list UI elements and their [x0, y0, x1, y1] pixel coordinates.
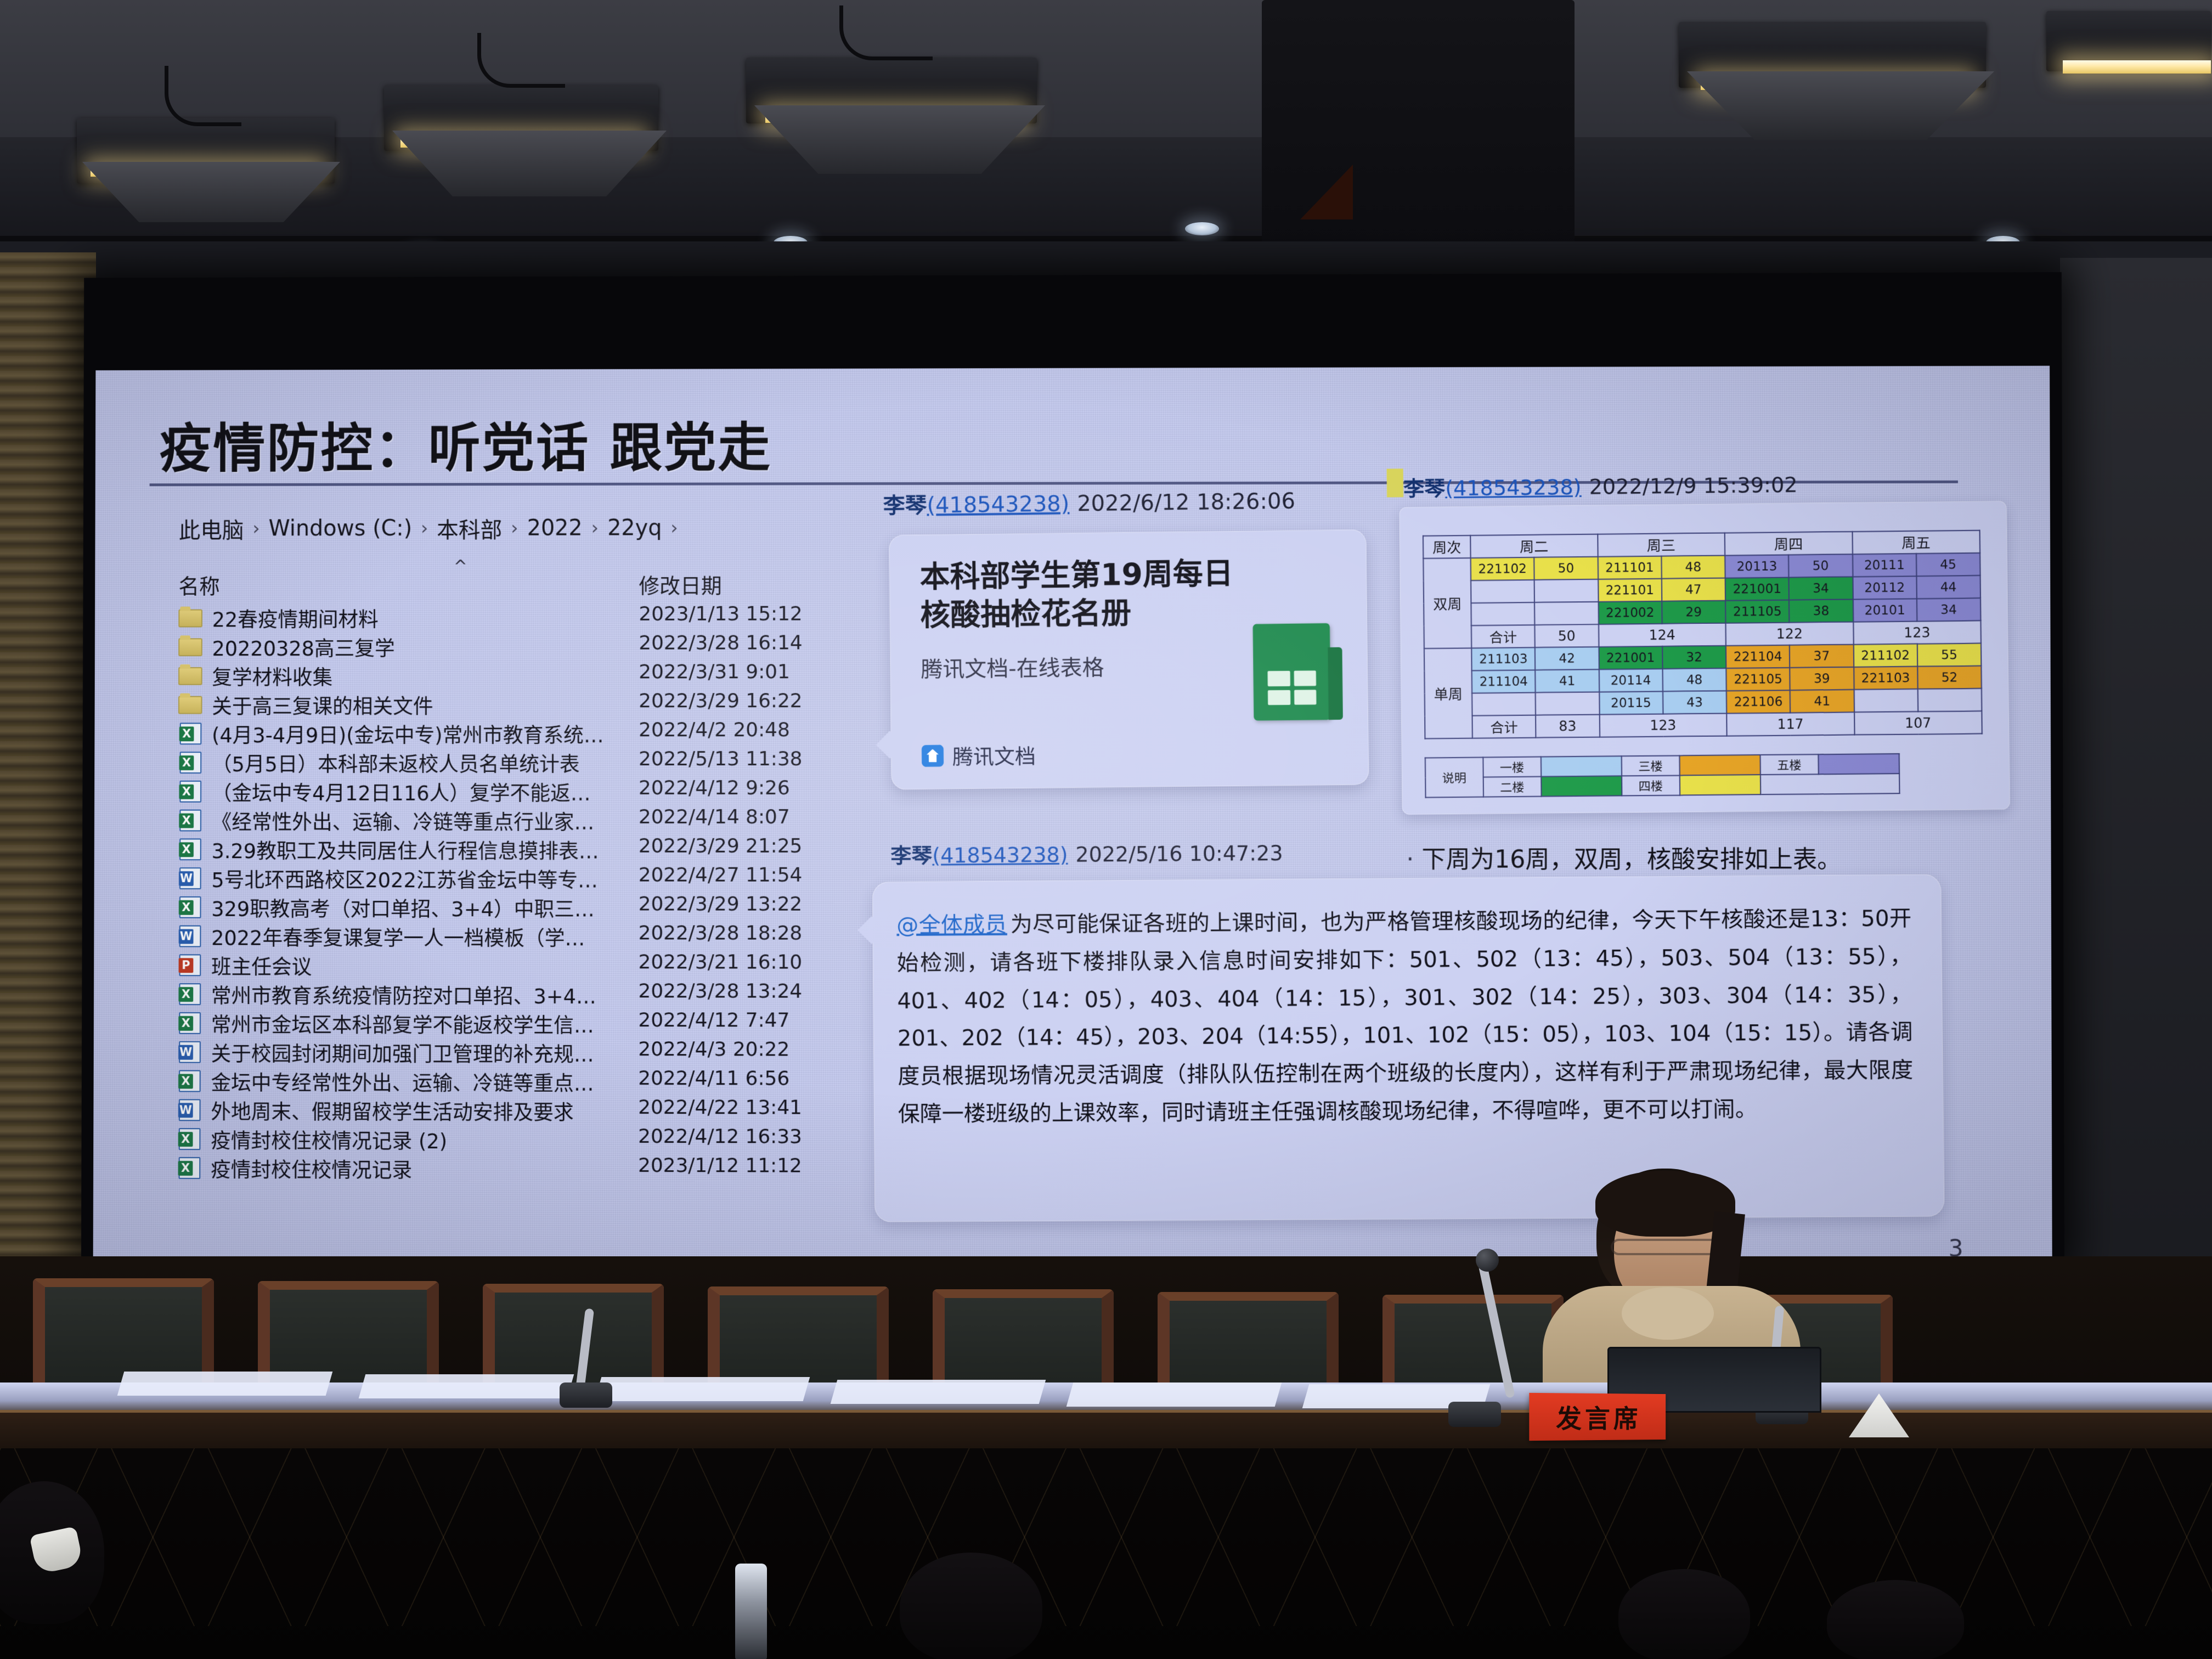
legend-empty	[1760, 774, 1900, 794]
file-name: 2022年春季复课复学一人一档模板（学…	[211, 921, 585, 951]
file-row[interactable]: W外地周末、假期留校学生活动安排及要求2022/4/22 13:41	[159, 1095, 890, 1126]
class-code-cell: 211105	[1725, 600, 1790, 623]
schedule-total-row: 合计83123117107	[1425, 711, 1982, 738]
class-count-cell: 45	[1916, 553, 1980, 576]
legend-swatch	[1818, 754, 1899, 774]
doc-subtitle: 腾讯文档-在线表格	[921, 650, 1104, 684]
file-row[interactable]: X常州市金坛区本科部复学不能返校学生信…2022/4/12 7:47	[159, 1008, 890, 1039]
sort-ascending-icon: ^	[454, 557, 467, 577]
file-name: 20220328高三复学	[212, 632, 394, 662]
file-modified-date: 2022/4/3 20:22	[638, 1038, 789, 1060]
file-list[interactable]: 22春疫情期间材料2023/1/13 15:1220220328高三复学2022…	[159, 602, 890, 1184]
week-group-label: 双周	[1423, 558, 1471, 648]
table-paper-4	[831, 1380, 1046, 1404]
class-code-cell: 221102	[1471, 557, 1534, 580]
breadcrumb-separator-icon: ›	[511, 517, 518, 539]
folder-icon	[178, 665, 204, 687]
file-modified-date: 2022/3/29 13:22	[639, 893, 803, 916]
class-code-cell: 211102	[1853, 644, 1917, 667]
file-name: (4月3-4月9日)(金坛中专)常州市教育系统…	[212, 719, 604, 748]
excel-file-icon: X	[178, 896, 203, 918]
file-name: 常州市教育系统疫情防控对口单招、3+4…	[211, 979, 596, 1009]
legend-swatch	[1541, 776, 1622, 796]
file-row[interactable]: X(4月3-4月9日)(金坛中专)常州市教育系统…2022/4/2 20:48	[160, 719, 890, 748]
excel-file-icon: X	[177, 983, 202, 1005]
file-row[interactable]: X金坛中专经常性外出、运输、冷链等重点…2022/4/11 6:56	[159, 1066, 890, 1097]
mention-all[interactable]: @全体成员	[896, 912, 1007, 938]
message-timestamp: 2022/12/9 15:39:02	[1589, 473, 1797, 499]
class-code-cell: 20114	[1599, 669, 1662, 692]
audience-head-2	[900, 1553, 1042, 1659]
file-modified-date: 2022/4/27 11:54	[639, 864, 803, 887]
legend-swatch	[1679, 755, 1760, 775]
file-modified-date: 2022/4/12 7:47	[638, 1009, 789, 1031]
file-modified-date: 2022/4/12 16:33	[638, 1125, 802, 1148]
ceiling-cable-1	[165, 66, 241, 126]
file-row[interactable]: W关于校园封闭期间加强门卫管理的补充规…2022/4/3 20:22	[159, 1037, 890, 1068]
right-wall-panel	[2060, 258, 2212, 1300]
class-code-cell: 20115	[1599, 691, 1663, 714]
file-row[interactable]: X（金坛中专4月12日116人）复学不能返…2022/4/12 9:26	[160, 777, 890, 806]
file-name: 班主任会议	[211, 950, 312, 980]
table-paper-2	[359, 1374, 574, 1398]
tencent-docs-brand: 腾讯文档	[952, 740, 1036, 771]
class-count-cell: 32	[1662, 646, 1726, 669]
breadcrumb-item-1[interactable]: Windows (C:)	[269, 516, 413, 541]
excel-file-icon: X	[178, 723, 204, 744]
file-row[interactable]: 关于高三复课的相关文件2022/3/29 16:22	[160, 690, 890, 719]
file-row[interactable]: 22春疫情期间材料2023/1/13 15:12	[160, 602, 890, 632]
doc-card-footer: 腾讯文档	[922, 740, 1036, 771]
class-count-cell: 48	[1661, 555, 1725, 578]
breadcrumb-separator-icon: ›	[421, 517, 428, 539]
class-count-cell: 43	[1663, 691, 1726, 714]
audience-head-4	[1827, 1580, 1964, 1659]
file-row[interactable]: 复学材料收集2022/3/31 9:01	[160, 661, 890, 690]
total-value: 123	[1853, 620, 1981, 644]
class-code-cell: 20112	[1853, 576, 1917, 599]
doc-title: 本科部学生第19周每日核酸抽检花名册	[919, 554, 1260, 635]
projection-screen: 疫情防控：听党话 跟党走 3 此电脑 › Windows (C:) › 本科部 …	[93, 366, 2052, 1282]
speaker-nameplate: 发言席	[1529, 1393, 1666, 1441]
breadcrumb-item-3[interactable]: 2022	[527, 516, 583, 541]
ceiling-cable-3	[839, 5, 933, 60]
tencent-sheet-icon	[1253, 623, 1331, 721]
class-code-cell: 20111	[1852, 554, 1916, 577]
word-file-icon: W	[178, 867, 203, 889]
page-title: 疫情防控：听党话 跟党走	[159, 405, 772, 482]
total-label: 合计	[1472, 715, 1536, 738]
file-modified-date: 2022/3/29 16:22	[639, 690, 803, 712]
file-name: 3.29教职工及共同居住人行程信息摸排表…	[212, 834, 599, 864]
file-modified-date: 2022/3/28 13:24	[638, 980, 802, 1002]
class-code-cell	[1471, 602, 1534, 625]
file-modified-date: 2022/4/11 6:56	[638, 1067, 789, 1090]
legend-row: 二楼四楼	[1425, 774, 1899, 798]
schedule-table-card[interactable]: 李琴(418543238)2022/12/9 15:39:02 周次周二周三周四…	[1399, 501, 2010, 815]
file-modified-date: 2022/4/12 9:26	[639, 777, 790, 799]
file-modified-date: 2022/4/2 20:48	[639, 719, 790, 741]
announcement-header: 李琴(418543238)2022/5/16 10:47:23	[890, 836, 1283, 869]
file-modified-date: 2022/3/31 9:01	[639, 661, 790, 683]
day-header: 周三	[1598, 533, 1725, 556]
file-modified-date: 2022/3/28 16:14	[639, 631, 802, 654]
sender-name: 李琴	[890, 844, 932, 868]
tencent-docs-logo-icon	[922, 744, 944, 766]
sender-name: 李琴	[883, 493, 927, 519]
class-count-cell: 41	[1790, 690, 1854, 713]
file-name: 金坛中专经常性外出、运输、冷链等重点…	[211, 1066, 594, 1096]
excel-file-icon: X	[178, 809, 203, 831]
file-modified-date: 2022/4/22 13:41	[638, 1096, 802, 1119]
presentation-slide: 疫情防控：听党话 跟党走 3 此电脑 › Windows (C:) › 本科部 …	[93, 366, 2052, 1282]
total-value: 107	[1854, 711, 1982, 735]
file-name: （5月5日）本科部未返校人员名单统计表	[212, 748, 580, 777]
class-count-cell: 47	[1662, 578, 1725, 601]
file-row[interactable]: X疫情封校住校情况记录2023/1/12 11:12	[159, 1153, 890, 1184]
powerpoint-file-icon: P	[178, 954, 203, 976]
excel-file-icon: X	[177, 1157, 202, 1179]
class-code-cell	[1854, 689, 1918, 712]
total-value: 123	[1599, 713, 1726, 737]
bullet-icon: ·	[1406, 845, 1414, 873]
file-modified-date: 2022/4/14 8:07	[639, 806, 790, 828]
legend-label: 说明	[1425, 757, 1483, 797]
breadcrumb-separator-icon: ›	[252, 518, 260, 540]
class-count-cell: 38	[1789, 599, 1853, 622]
file-modified-date: 2023/1/12 11:12	[638, 1154, 802, 1177]
class-code-cell: 221001	[1725, 577, 1790, 600]
announcement-body: @全体成员为尽可能保证各班的上课时间，也为严格管理核酸现场的纪律，今天下午核酸还…	[896, 900, 1914, 1133]
class-code-cell	[1471, 580, 1534, 603]
day-header: 周二	[1470, 534, 1598, 558]
nucleic-acid-schedule-table: 周次周二周三周四周五双周2211025021110148201135020111…	[1423, 530, 1983, 740]
excel-file-icon: X	[177, 1070, 202, 1092]
file-name: 常州市金坛区本科部复学不能返校学生信…	[211, 1008, 594, 1039]
file-name: 复学材料收集	[212, 661, 332, 690]
schedule-message-header: 李琴(418543238)2022/12/9 15:39:02	[1403, 468, 1798, 503]
conference-room-photo: 疫情防控：听党话 跟党走 3 此电脑 › Windows (C:) › 本科部 …	[0, 0, 2212, 1659]
total-value: 124	[1599, 623, 1726, 647]
microphone-base-2	[1448, 1402, 1501, 1427]
class-code-cell: 20101	[1853, 599, 1917, 622]
class-code-cell	[1472, 692, 1536, 715]
file-row[interactable]: X（5月5日）本科部未返校人员名单统计表2022/5/13 11:38	[160, 748, 890, 777]
class-count-cell: 34	[1917, 598, 1981, 621]
excel-file-icon: X	[177, 1128, 202, 1150]
file-name: 疫情封校住校情况记录	[211, 1153, 412, 1183]
file-modified-date: 2022/3/28 18:28	[639, 922, 803, 944]
file-name: 外地周末、假期留校学生活动安排及要求	[211, 1095, 573, 1125]
qq-message-header: 李琴(418543238)2022/6/12 18:26:06	[883, 483, 1295, 520]
file-row[interactable]: X《经常性外出、运输、冷链等重点行业家…2022/4/14 8:07	[160, 806, 890, 835]
breadcrumb-separator-icon: ›	[591, 517, 599, 539]
folder-icon	[178, 607, 204, 629]
excel-file-icon: X	[178, 780, 203, 802]
file-name: 疫情封校住校情况记录 (2)	[211, 1124, 447, 1154]
class-count-cell: 48	[1662, 668, 1726, 691]
ceiling-downlight-4	[1185, 222, 1219, 235]
excel-file-icon: X	[177, 1012, 202, 1034]
row-header-label: 周次	[1423, 535, 1471, 558]
total-label: 合计	[1471, 625, 1535, 648]
class-code-cell: 20113	[1725, 555, 1789, 578]
explorer-column-headers: 名称 ^ 修改日期	[160, 569, 890, 603]
ceiling-cable-2	[477, 33, 565, 88]
file-modified-date: 2022/3/21 16:10	[639, 951, 803, 973]
class-count-cell: 39	[1790, 667, 1854, 690]
schedule-legend: 说明一楼三楼五楼二楼四楼	[1425, 753, 1900, 798]
class-count-cell	[1917, 689, 1982, 712]
class-count-cell: 34	[1789, 577, 1853, 600]
class-count-cell: 50	[1788, 554, 1853, 577]
file-row[interactable]: P班主任会议2022/3/21 16:10	[159, 950, 890, 980]
class-code-cell: 221002	[1598, 601, 1662, 624]
breadcrumb-separator-icon: ›	[670, 517, 678, 539]
word-file-icon: W	[177, 1099, 202, 1121]
legend-floor: 一楼	[1483, 757, 1541, 777]
schedule-note-text: 下周为16周，双周，核酸安排如上表。	[1421, 845, 1841, 874]
file-name: 关于高三复课的相关文件	[212, 690, 433, 719]
breadcrumb-item-2[interactable]: 本科部	[437, 512, 502, 544]
message-timestamp: 2022/6/12 18:26:06	[1077, 489, 1295, 517]
total-value: 122	[1725, 622, 1853, 646]
table-paper-3	[595, 1377, 810, 1401]
class-count-cell: 50	[1534, 557, 1598, 580]
audience-head-3	[1618, 1569, 1750, 1659]
class-count-cell: 44	[1916, 575, 1980, 599]
file-modified-date: 2023/1/13 15:12	[639, 603, 802, 625]
folder-icon	[178, 636, 204, 658]
highlight-chip	[1387, 469, 1404, 497]
file-row[interactable]: X常州市教育系统疫情防控对口单招、3+4…2022/3/28 13:24	[159, 979, 890, 1009]
file-modified-date: 2022/5/13 11:38	[639, 748, 803, 770]
week-group-label: 单周	[1424, 648, 1472, 738]
word-file-icon: W	[178, 925, 203, 947]
sender-uid[interactable]: (418543238)	[932, 843, 1068, 868]
tencent-docs-card[interactable]: 李琴(418543238)2022/6/12 18:26:06 本科部学生第19…	[889, 529, 1369, 789]
total-value: 83	[1536, 714, 1599, 737]
file-name: 关于校园封闭期间加强门卫管理的补充规…	[211, 1037, 594, 1067]
class-code-cell: 211104	[1472, 670, 1536, 693]
total-value: 50	[1535, 624, 1599, 647]
class-count-cell	[1536, 692, 1599, 715]
eyeglasses-icon	[1611, 1239, 1720, 1255]
file-name: 22春疫情期间材料	[212, 603, 379, 633]
class-count-cell	[1534, 579, 1598, 602]
legend-floor: 五楼	[1760, 754, 1818, 775]
class-count-cell: 41	[1535, 669, 1599, 692]
class-code-cell: 221104	[1726, 645, 1790, 668]
class-count-cell	[1534, 602, 1598, 625]
sender-name: 李琴	[1403, 476, 1446, 501]
file-name: （金坛中专4月12日116人）复学不能返…	[212, 776, 591, 806]
sheet-grid-glyph	[1268, 670, 1317, 705]
breadcrumb[interactable]: 此电脑 › Windows (C:) › 本科部 › 2022 › 22yq ›	[160, 512, 890, 545]
class-code-cell: 221106	[1726, 690, 1791, 713]
sender-uid[interactable]: (418543238)	[927, 492, 1069, 518]
class-code-cell: 221105	[1726, 668, 1790, 691]
legend-floor: 三楼	[1622, 755, 1680, 776]
file-row[interactable]: X3.29教职工及共同居住人行程信息摸排表…2022/3/29 21:25	[159, 834, 890, 864]
breadcrumb-item-0[interactable]: 此电脑	[179, 513, 244, 545]
table-paper-5	[1066, 1383, 1282, 1407]
legend-swatch	[1679, 775, 1760, 795]
class-count-cell: 42	[1535, 647, 1599, 670]
column-header-name[interactable]: 名称	[178, 569, 219, 600]
day-header: 周五	[1852, 531, 1980, 554]
message-timestamp: 2022/5/16 10:47:23	[1075, 841, 1283, 867]
class-count-cell: 55	[1917, 644, 1982, 667]
microphone-base-1	[560, 1383, 612, 1408]
class-code-cell: 211103	[1471, 647, 1535, 670]
file-explorer-panel: 此电脑 › Windows (C:) › 本科部 › 2022 › 22yq ›…	[159, 512, 890, 1214]
schedule-note: ·下周为16周，双周，核酸安排如上表。	[1406, 839, 1841, 875]
class-count-cell: 52	[1917, 666, 1982, 689]
legend-floor: 四楼	[1622, 775, 1680, 795]
class-code-cell: 211101	[1598, 556, 1661, 579]
table-paper-1	[117, 1372, 333, 1396]
word-file-icon: W	[177, 1041, 202, 1063]
file-name: 329职教高考（对口单招、3+4）中职三…	[211, 892, 595, 922]
presenter-collar	[1622, 1287, 1714, 1340]
sender-uid[interactable]: (418543238)	[1445, 475, 1582, 501]
total-value: 117	[1726, 712, 1854, 736]
class-count-cell: 37	[1790, 645, 1854, 668]
folder-icon	[178, 693, 204, 715]
file-name: 《经常性外出、运输、冷链等重点行业家…	[212, 805, 595, 835]
file-row[interactable]: W2022年春季复课复学一人一档模板（学…2022/3/28 18:28	[159, 922, 890, 951]
breadcrumb-item-4[interactable]: 22yq	[607, 515, 662, 540]
class-code-cell: 221101	[1598, 579, 1662, 602]
legend-floor: 二楼	[1483, 777, 1541, 797]
stage-light-bar-5	[2063, 60, 2211, 74]
water-bottle	[735, 1564, 767, 1659]
file-row[interactable]: W5号北环西路校区2022江苏省金坛中等专…2022/4/27 11:54	[159, 864, 890, 893]
file-row[interactable]: X疫情封校住校情况记录 (2)2022/4/12 16:33	[159, 1124, 890, 1155]
projection-screen-frame: 疫情防控：听党话 跟党走 3 此电脑 › Windows (C:) › 本科部 …	[81, 272, 2064, 1265]
file-row[interactable]: X329职教高考（对口单招、3+4）中职三…2022/3/29 13:22	[159, 893, 890, 922]
file-modified-date: 2022/3/29 21:25	[639, 835, 803, 857]
column-header-modified[interactable]: 修改日期	[639, 569, 721, 599]
class-code-cell: 221103	[1854, 667, 1918, 690]
excel-file-icon: X	[178, 838, 203, 860]
file-row[interactable]: 20220328高三复学2022/3/28 16:14	[160, 631, 890, 661]
announcement-text: 为尽可能保证各班的上课时间，也为严格管理核酸现场的纪律，今天下午核酸还是13：5…	[897, 906, 1914, 1127]
day-header: 周四	[1725, 532, 1853, 555]
file-name: 5号北环西路校区2022江苏省金坛中等专…	[211, 864, 597, 893]
legend-swatch	[1541, 756, 1621, 776]
class-code-cell: 221001	[1599, 646, 1662, 669]
class-count-cell: 29	[1662, 601, 1725, 624]
microphone-head-2	[1476, 1249, 1499, 1272]
excel-file-icon: X	[178, 752, 204, 774]
